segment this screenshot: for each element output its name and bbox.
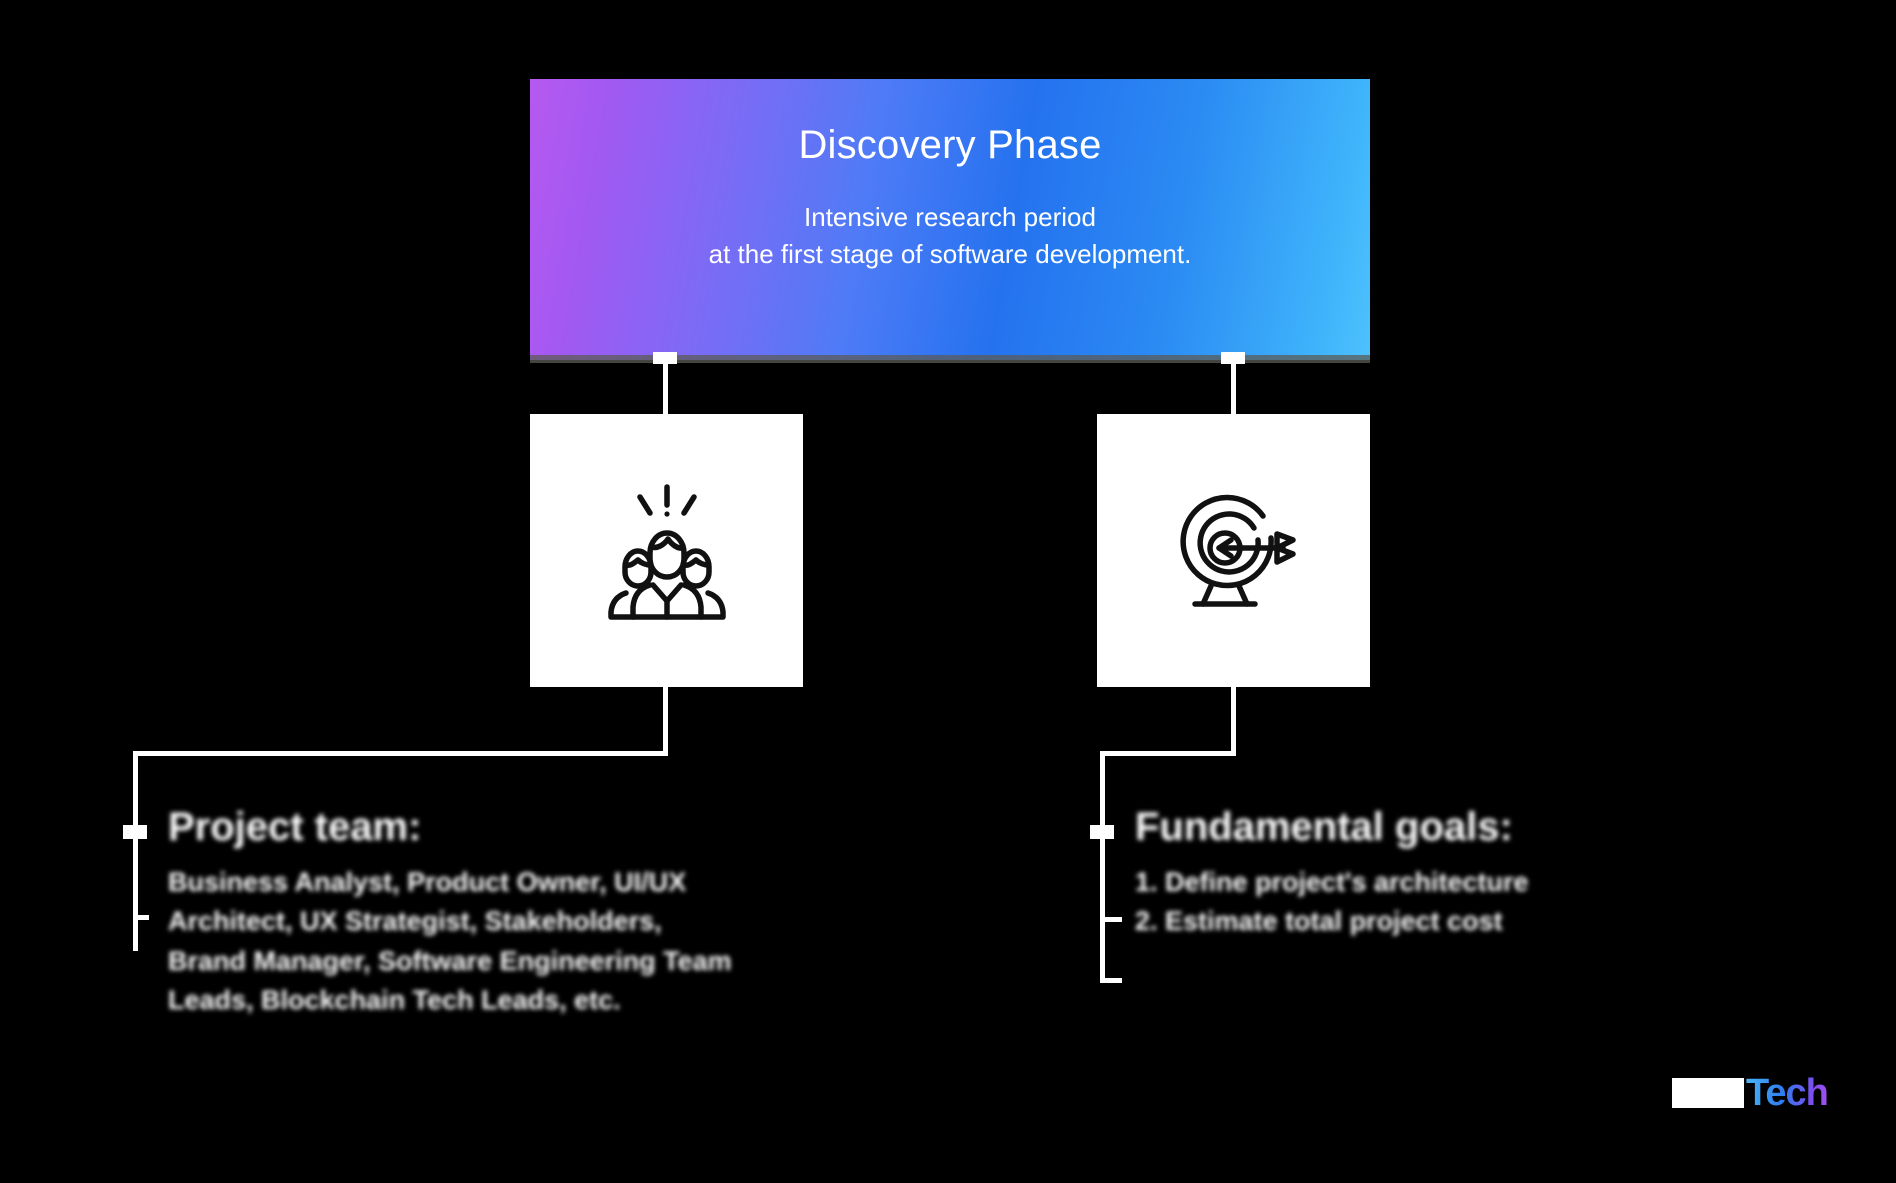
target-bullseye-icon bbox=[1159, 486, 1309, 616]
project-team-line: Business Analyst, Product Owner, UI/UX bbox=[168, 863, 888, 902]
connector-right-down bbox=[1100, 751, 1105, 983]
project-team-heading: Project team: bbox=[168, 805, 888, 849]
connector-banner-right-nub bbox=[1221, 352, 1245, 364]
team-people-icon bbox=[592, 481, 742, 621]
connector-left-box-vertical bbox=[663, 687, 668, 751]
fundamental-goals-icon-card[interactable] bbox=[1097, 414, 1370, 687]
project-team-icon-card[interactable] bbox=[530, 414, 803, 687]
logo-masked-word bbox=[1672, 1078, 1744, 1108]
logo-word: Tech bbox=[1744, 1074, 1828, 1112]
banner-subtitle-line-2: at the first stage of software developme… bbox=[709, 239, 1192, 269]
project-team-line: Leads, Blockchain Tech Leads, etc. bbox=[168, 981, 888, 1020]
banner-title: Discovery Phase bbox=[530, 121, 1370, 169]
fundamental-goals-line: 1. Define project's architecture bbox=[1135, 863, 1835, 902]
connector-right-box-vertical bbox=[1231, 687, 1236, 751]
connector-left-horizontal bbox=[133, 751, 668, 756]
banner-subtitle: Intensive research period at the first s… bbox=[530, 169, 1370, 273]
connector-right-horizontal bbox=[1100, 751, 1236, 756]
connector-left-body-tick bbox=[133, 915, 149, 920]
connector-banner-to-left-box bbox=[663, 358, 668, 416]
project-team-line: Architect, UX Strategist, Stakeholders, bbox=[168, 902, 888, 941]
connector-right-item1-tick bbox=[1100, 917, 1122, 922]
project-team-body: Business Analyst, Product Owner, UI/UX A… bbox=[168, 863, 888, 1021]
connector-right-bullet-tick bbox=[1090, 825, 1114, 839]
connector-left-bullet-tick bbox=[123, 825, 147, 839]
discovery-phase-banner: Discovery Phase Intensive research perio… bbox=[530, 79, 1370, 360]
fundamental-goals-heading: Fundamental goals: bbox=[1135, 805, 1835, 849]
brand-logo[interactable]: Tech bbox=[1672, 1073, 1828, 1113]
project-team-section: Project team: Business Analyst, Product … bbox=[168, 805, 888, 1021]
fundamental-goals-body: 1. Define project's architecture 2. Esti… bbox=[1135, 863, 1835, 942]
connector-right-item2-tick bbox=[1100, 978, 1122, 983]
connector-banner-to-right-box bbox=[1231, 358, 1236, 416]
fundamental-goals-section: Fundamental goals: 1. Define project's a… bbox=[1135, 805, 1835, 942]
banner-subtitle-line-1: Intensive research period bbox=[804, 202, 1096, 232]
connector-banner-left-nub bbox=[653, 352, 677, 364]
fundamental-goals-line: 2. Estimate total project cost bbox=[1135, 902, 1835, 941]
project-team-line: Brand Manager, Software Engineering Team bbox=[168, 942, 888, 981]
connector-left-down bbox=[133, 751, 138, 951]
